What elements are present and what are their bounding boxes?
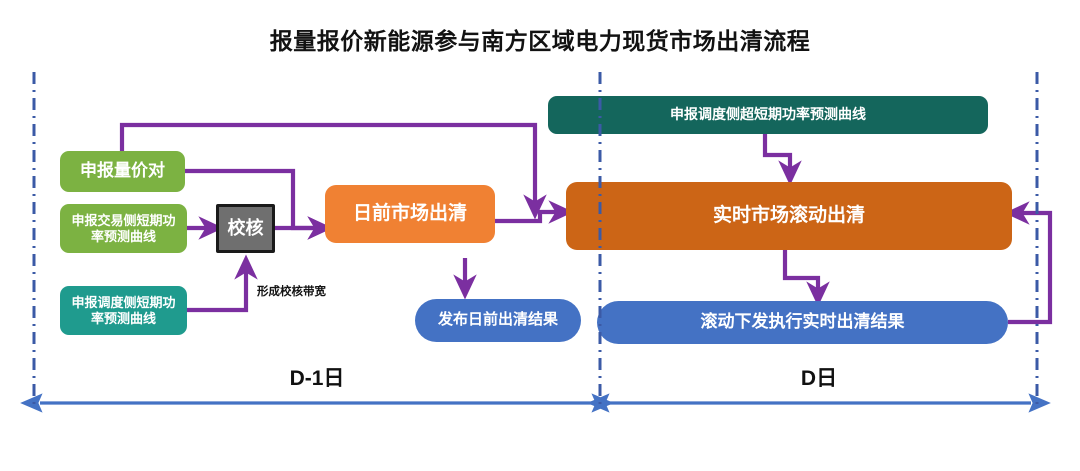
day-divider-layer: [0, 0, 1080, 471]
diagram-canvas: 报量报价新能源参与南方区域电力现货市场出清流程: [0, 0, 1080, 471]
